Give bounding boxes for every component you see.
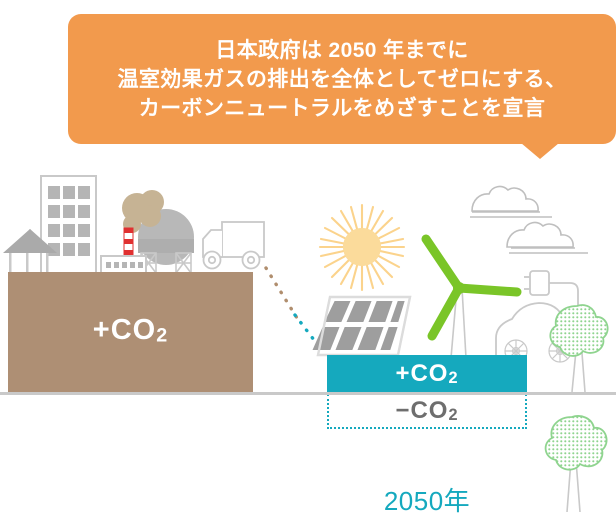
- cloud-icon: [507, 223, 588, 253]
- future-negative-co2-block: −CO2: [327, 394, 527, 429]
- present-co2-block: +CO2: [8, 272, 253, 393]
- future-positive-subscript: 2: [448, 369, 458, 387]
- solar-panel-icon: [311, 297, 410, 355]
- future-year-label: 2050年: [327, 481, 527, 518]
- delivery-truck-icon: [203, 222, 264, 269]
- tree-icon: [546, 416, 607, 512]
- future-negative-co2-label: −CO2: [395, 397, 458, 425]
- ground-line: [0, 392, 616, 395]
- present-co2-text: CO: [111, 314, 157, 346]
- tree-icon: [550, 305, 607, 392]
- future-positive-co2-label: +CO2: [395, 360, 458, 388]
- future-negative-sign: −: [395, 397, 410, 424]
- future-positive-text: CO: [410, 360, 448, 387]
- future-negative-subscript: 2: [448, 405, 458, 423]
- scene-illustration: [0, 0, 616, 526]
- future-negative-text: CO: [410, 397, 448, 424]
- present-co2-sign: +: [93, 314, 111, 346]
- sun-icon: [320, 205, 404, 290]
- infographic-canvas: 日本政府は 2050 年までに 温室効果ガスの排出を全体としてゼロにする、 カー…: [0, 0, 616, 526]
- future-positive-co2-block: +CO2: [327, 355, 527, 393]
- office-building-icon: [41, 176, 96, 273]
- wind-turbine-icon: [426, 239, 517, 358]
- cloud-icon: [470, 187, 552, 217]
- present-co2-label: +CO2: [93, 314, 168, 347]
- present-co2-subscript: 2: [156, 324, 168, 346]
- future-positive-sign: +: [395, 360, 410, 387]
